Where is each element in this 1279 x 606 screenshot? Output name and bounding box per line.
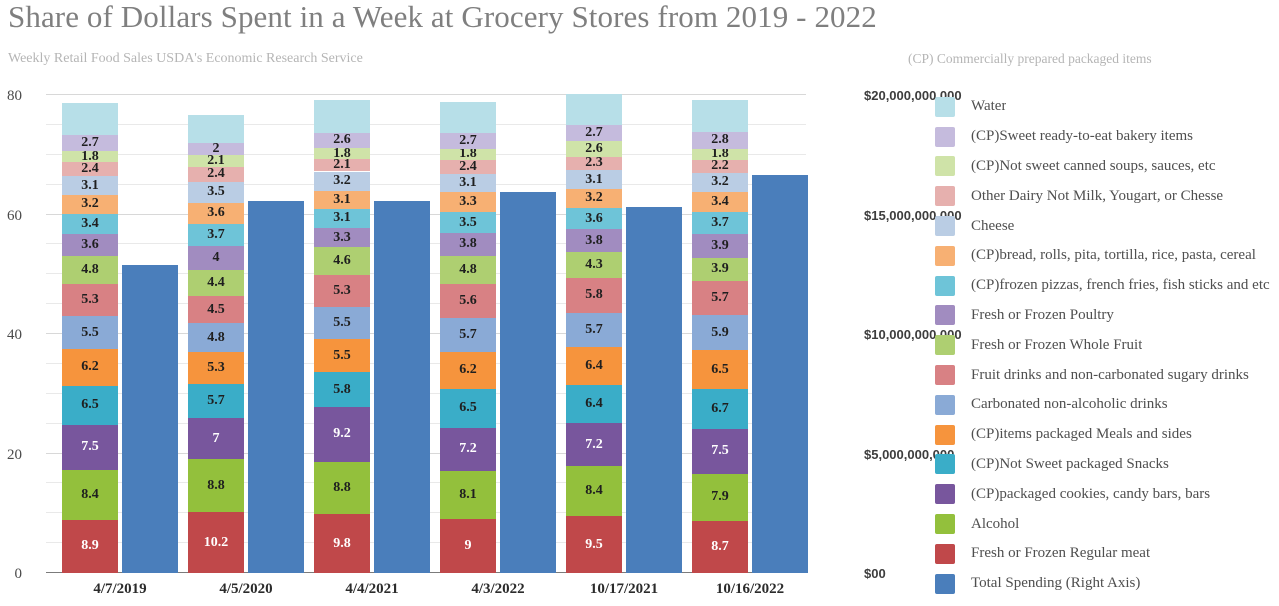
stack-segment[interactable] [62, 103, 118, 135]
stacked-bar[interactable]: 10.28.875.75.34.84.54.443.73.63.52.42.12 [188, 95, 244, 573]
stack-segment[interactable]: 3.9 [692, 234, 748, 257]
legend-swatch-icon [935, 454, 955, 474]
stack-segment[interactable]: 8.7 [692, 521, 748, 573]
page-title: Share of Dollars Spent in a Week at Groc… [8, 0, 1008, 38]
stack-segment[interactable]: 3.2 [62, 195, 118, 214]
stack-segment[interactable]: 7.5 [62, 425, 118, 470]
legend-swatch-icon [935, 335, 955, 355]
stack-segment[interactable]: 3.7 [692, 212, 748, 234]
stacked-bar[interactable]: 8.98.47.56.56.25.55.34.83.63.43.23.12.41… [62, 95, 118, 573]
total-spending-bar[interactable] [500, 192, 556, 573]
legend-label: (CP)Not Sweet packaged Snacks [971, 456, 1169, 473]
stack-segment[interactable]: 8.9 [62, 520, 118, 573]
stack-segment[interactable]: 3.8 [566, 229, 622, 252]
stack-segment[interactable]: 6.4 [566, 347, 622, 385]
stack-segment[interactable] [692, 100, 748, 132]
legend-label: Total Spending (Right Axis) [971, 575, 1140, 592]
legend-swatch-icon [935, 544, 955, 564]
stack-segment[interactable]: 5.8 [314, 372, 370, 407]
bar-group: 10.28.875.75.34.84.54.443.73.63.52.42.12 [188, 95, 304, 573]
legend-swatch-icon [935, 365, 955, 385]
stack-segment[interactable]: 5.5 [314, 339, 370, 372]
stack-segment[interactable]: 8.1 [440, 471, 496, 519]
stack-segment[interactable]: 3.2 [692, 173, 748, 192]
stack-segment[interactable] [440, 102, 496, 133]
stack-segment[interactable]: 4.8 [62, 256, 118, 285]
chart-legend: Water(CP)Sweet ready-to-eat bakery items… [935, 92, 1279, 599]
legend-item[interactable]: Fresh or Frozen Poultry [935, 301, 1279, 331]
stack-segment[interactable]: 2 [188, 143, 244, 155]
stack-segment[interactable]: 5.3 [314, 275, 370, 307]
legend-item[interactable]: Fresh or Frozen Regular meat [935, 539, 1279, 569]
stack-segment[interactable]: 1.8 [62, 151, 118, 162]
legend-label: (CP)bread, rolls, pita, tortilla, rice, … [971, 247, 1256, 264]
legend-item[interactable]: (CP)bread, rolls, pita, tortilla, rice, … [935, 241, 1279, 271]
stack-segment[interactable]: 2.7 [62, 135, 118, 151]
stack-segment[interactable]: 3.9 [692, 258, 748, 281]
stack-segment[interactable]: 4.4 [188, 270, 244, 296]
stack-segment[interactable]: 5.3 [62, 284, 118, 316]
stack-segment[interactable]: 9.2 [314, 407, 370, 462]
stack-segment[interactable]: 3.6 [566, 208, 622, 230]
legend-item[interactable]: Fruit drinks and non-carbonated sugary d… [935, 360, 1279, 390]
stack-segment[interactable]: 2.2 [692, 160, 748, 173]
stack-segment[interactable]: 3.5 [188, 182, 244, 203]
stack-segment[interactable]: 5.5 [314, 307, 370, 340]
legend-swatch-icon [935, 305, 955, 325]
stack-segment[interactable]: 2.6 [314, 133, 370, 149]
stack-segment[interactable]: 2.1 [188, 155, 244, 168]
total-spending-bar[interactable] [626, 207, 682, 573]
stack-segment[interactable]: 2.6 [566, 141, 622, 157]
chart-subtitle: Weekly Retail Food Sales USDA's Economic… [8, 51, 363, 67]
stack-segment[interactable]: 3.2 [314, 172, 370, 191]
legend-item[interactable]: (CP)Sweet ready-to-eat bakery items [935, 122, 1279, 152]
stack-segment[interactable]: 6.4 [566, 385, 622, 423]
stack-segment[interactable]: 3.8 [440, 233, 496, 256]
legend-item[interactable]: Other Dairy Not Milk, Yougart, or Chesse [935, 181, 1279, 211]
stack-segment[interactable]: 6.5 [440, 389, 496, 428]
stack-segment[interactable]: 5.7 [188, 384, 244, 418]
stack-segment[interactable]: 9 [440, 519, 496, 573]
stack-segment[interactable]: 3.3 [440, 192, 496, 212]
stack-segment[interactable]: 2.4 [440, 160, 496, 174]
legend-item[interactable]: (CP)Not sweet canned soups, sauces, etc [935, 152, 1279, 182]
stack-segment[interactable]: 4.8 [188, 323, 244, 352]
stack-segment[interactable]: 7.2 [566, 423, 622, 466]
stack-segment[interactable]: 9.8 [314, 514, 370, 573]
legend-swatch-icon [935, 574, 955, 594]
legend-label: Fresh or Frozen Regular meat [971, 545, 1150, 562]
total-spending-bar[interactable] [122, 265, 178, 573]
stack-segment[interactable]: 3.2 [566, 189, 622, 208]
y-axis-tick-label: 40 [0, 327, 22, 344]
bar-group: 9.58.47.26.46.45.75.84.33.83.63.23.12.32… [566, 95, 682, 573]
stack-segment[interactable]: 3.1 [62, 176, 118, 195]
legend-swatch-icon [935, 156, 955, 176]
legend-label: Fresh or Frozen Poultry [971, 307, 1114, 324]
bar-group: 98.17.26.56.25.75.64.83.83.53.33.12.41.8… [440, 95, 556, 573]
stack-segment[interactable]: 8.8 [314, 462, 370, 515]
legend-label: Other Dairy Not Milk, Yougart, or Chesse [971, 188, 1223, 205]
total-spending-bar[interactable] [374, 201, 430, 573]
x-axis-tick-label: 4/7/2019 [50, 581, 190, 598]
stack-segment[interactable]: 2.7 [566, 125, 622, 141]
stack-segment[interactable]: 5.3 [188, 352, 244, 384]
stack-segment[interactable]: 5.7 [566, 313, 622, 347]
stack-segment[interactable]: 3.1 [566, 170, 622, 189]
legend-item[interactable]: Alcohol [935, 509, 1279, 539]
stack-segment[interactable]: 1.8 [314, 148, 370, 159]
stack-segment[interactable]: 7.2 [440, 428, 496, 471]
stack-segment[interactable]: 5.7 [440, 318, 496, 352]
stack-segment[interactable]: 4.3 [566, 252, 622, 278]
stack-segment[interactable]: 7 [188, 418, 244, 460]
legend-item[interactable]: (CP)frozen pizzas, french fries, fish st… [935, 271, 1279, 301]
legend-label: (CP)Not sweet canned soups, sauces, etc [971, 158, 1216, 175]
stack-segment[interactable]: 6.2 [62, 349, 118, 386]
legend-swatch-icon [935, 216, 955, 236]
y-axis-tick-label: 0 [0, 566, 22, 583]
stack-segment[interactable]: 6.5 [62, 386, 118, 425]
stack-segment[interactable]: 3.5 [440, 212, 496, 233]
stack-segment[interactable]: 3.1 [314, 191, 370, 210]
stack-segment[interactable]: 2.1 [314, 159, 370, 172]
legend-swatch-icon [935, 97, 955, 117]
stacked-bar[interactable]: 9.58.47.26.46.45.75.84.33.83.63.23.12.32… [566, 95, 622, 573]
legend-label: (CP)packaged cookies, candy bars, bars [971, 486, 1210, 503]
legend-swatch-icon [935, 127, 955, 147]
y-axis-tick-label: 60 [0, 208, 22, 225]
legend-label: Water [971, 98, 1006, 115]
legend-item[interactable]: Fresh or Frozen Whole Fruit [935, 330, 1279, 360]
stacked-bar[interactable]: 8.77.97.56.76.55.95.73.93.93.73.43.22.21… [692, 95, 748, 573]
total-spending-bar[interactable] [248, 201, 304, 573]
y-axis-tick-label: 20 [0, 447, 22, 464]
x-axis-tick-label: 4/3/2022 [428, 581, 568, 598]
x-axis-tick-label: 4/4/2021 [302, 581, 442, 598]
stack-segment[interactable]: 2.7 [440, 133, 496, 149]
bar-group: 8.77.97.56.76.55.95.73.93.93.73.43.22.21… [692, 95, 808, 573]
legend-label: (CP)frozen pizzas, french fries, fish st… [971, 277, 1270, 294]
legend-swatch-icon [935, 186, 955, 206]
x-axis-tick-label: 4/5/2020 [176, 581, 316, 598]
legend-label: (CP)items packaged Meals and sides [971, 426, 1192, 443]
legend-swatch-icon [935, 514, 955, 534]
plot-area: 020406080$00$5,000,000,000$10,000,000,00… [46, 95, 806, 573]
total-spending-bar[interactable] [752, 175, 808, 573]
stack-segment[interactable] [188, 115, 244, 142]
stack-segment[interactable]: 5.5 [62, 316, 118, 349]
x-axis-tick-label: 10/16/2022 [680, 581, 820, 598]
stack-segment[interactable]: 3.6 [62, 234, 118, 256]
bar-group: 9.88.89.25.85.55.55.34.63.33.13.13.22.11… [314, 95, 430, 573]
stack-segment[interactable]: 4 [188, 246, 244, 270]
stack-segment[interactable]: 6.7 [692, 389, 748, 429]
legend-item[interactable]: (CP)Not Sweet packaged Snacks [935, 450, 1279, 480]
legend-item[interactable]: (CP)items packaged Meals and sides [935, 420, 1279, 450]
legend-swatch-icon [935, 484, 955, 504]
stack-segment[interactable]: 3.6 [188, 203, 244, 225]
stack-segment[interactable]: 10.2 [188, 512, 244, 573]
legend-label: Alcohol [971, 516, 1019, 533]
legend-swatch-icon [935, 425, 955, 445]
legend-label: Fruit drinks and non-carbonated sugary d… [971, 367, 1249, 384]
chart-annotation-note: (CP) Commercially prepared packaged item… [908, 51, 1152, 67]
stack-segment[interactable]: 5.7 [692, 281, 748, 315]
chart-page: Share of Dollars Spent in a Week at Groc… [0, 0, 1279, 606]
stack-segment[interactable]: 3.4 [692, 192, 748, 212]
stack-segment[interactable]: 2.4 [188, 167, 244, 181]
stack-segment[interactable]: 5.6 [440, 284, 496, 317]
stacked-bar[interactable]: 98.17.26.56.25.75.64.83.83.53.33.12.41.8… [440, 95, 496, 573]
stack-segment[interactable]: 2.3 [566, 157, 622, 171]
stack-segment[interactable]: 4.5 [188, 296, 244, 323]
stack-segment[interactable] [314, 100, 370, 132]
stack-segment[interactable]: 8.4 [566, 466, 622, 516]
stack-segment[interactable]: 9.5 [566, 516, 622, 573]
x-axis-tick-label: 10/17/2021 [554, 581, 694, 598]
stacked-bar[interactable]: 9.88.89.25.85.55.55.34.63.33.13.13.22.11… [314, 95, 370, 573]
legend-label: Cheese [971, 218, 1014, 235]
stack-segment[interactable]: 4.6 [314, 247, 370, 274]
stack-segment[interactable]: 3.3 [314, 228, 370, 248]
bar-group: 8.98.47.56.56.25.55.34.83.63.43.23.12.41… [62, 95, 178, 573]
stack-segment[interactable] [566, 94, 622, 124]
stack-segment[interactable]: 1.8 [692, 149, 748, 160]
legend-item[interactable]: (CP)packaged cookies, candy bars, bars [935, 479, 1279, 509]
stack-segment[interactable]: 3.1 [440, 174, 496, 193]
stack-segment[interactable]: 6.5 [692, 350, 748, 389]
stack-segment[interactable]: 4.8 [440, 256, 496, 285]
stack-segment[interactable]: 8.8 [188, 459, 244, 512]
stack-segment[interactable]: 2.8 [692, 132, 748, 149]
stack-segment[interactable]: 1.8 [440, 149, 496, 160]
stack-segment[interactable]: 8.4 [62, 470, 118, 520]
legend-swatch-icon [935, 246, 955, 266]
legend-item[interactable]: Water [935, 92, 1279, 122]
stack-segment[interactable]: 7.9 [692, 474, 748, 521]
legend-item[interactable]: Total Spending (Right Axis) [935, 569, 1279, 599]
legend-item[interactable]: Carbonated non-alcoholic drinks [935, 390, 1279, 420]
stack-segment[interactable]: 3.1 [314, 209, 370, 228]
legend-swatch-icon [935, 276, 955, 296]
stack-segment[interactable]: 2.4 [62, 162, 118, 176]
legend-item[interactable]: Cheese [935, 211, 1279, 241]
y-axis-tick-label: 80 [0, 88, 22, 105]
stack-segment[interactable]: 3.4 [62, 214, 118, 234]
stack-segment[interactable]: 5.8 [566, 278, 622, 313]
legend-swatch-icon [935, 395, 955, 415]
stack-segment[interactable]: 7.5 [692, 429, 748, 474]
legend-label: Carbonated non-alcoholic drinks [971, 396, 1168, 413]
stack-segment[interactable]: 6.2 [440, 352, 496, 389]
legend-label: (CP)Sweet ready-to-eat bakery items [971, 128, 1193, 145]
stack-segment[interactable]: 3.7 [188, 224, 244, 246]
stack-segment[interactable]: 5.9 [692, 315, 748, 350]
legend-label: Fresh or Frozen Whole Fruit [971, 337, 1142, 354]
